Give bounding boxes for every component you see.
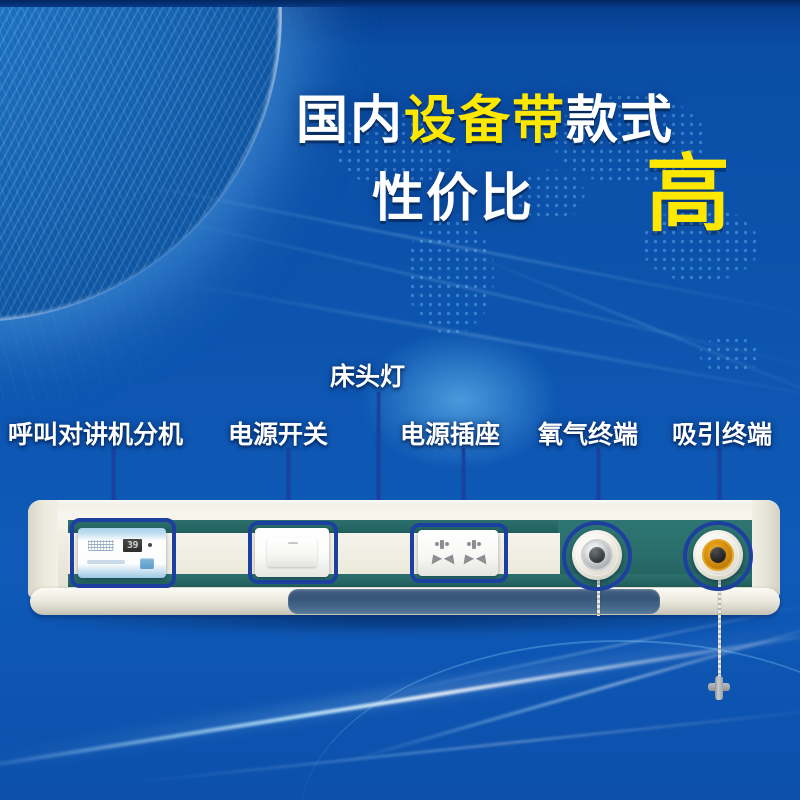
power-switch-rocker[interactable] [267, 538, 317, 567]
status-led-icon [148, 543, 152, 547]
callout-label-power-switch: 电源开关 [228, 415, 328, 451]
panel-end-cap-left [28, 500, 58, 598]
socket-outlet-right[interactable] [460, 540, 490, 566]
headline-big-word: 高 [646, 150, 732, 238]
headline-line-2: 性价比 [372, 170, 534, 228]
callout-label-intercom: 呼叫对讲机分机 [8, 415, 183, 451]
socket-prong-hole-icon [460, 552, 474, 565]
oxygen-terminal-outlet[interactable] [572, 530, 622, 580]
intercom-call-button[interactable] [140, 558, 154, 569]
rocker-nub-icon [288, 542, 298, 544]
socket-prong-hole-icon [428, 552, 442, 565]
intercom-display: 39 [123, 539, 142, 552]
headline-line-1: 国内设备带款式 [296, 92, 674, 150]
oxygen-terminal-port-icon [589, 547, 605, 563]
callout-label-bed-lamp: 床头灯 [330, 357, 405, 393]
socket-vertical-slot-icon [440, 540, 444, 549]
suction-terminal-port-icon [710, 547, 726, 563]
suction-terminal-outlet[interactable] [693, 530, 743, 580]
socket-prong-hole-icon [444, 552, 458, 565]
intercom-slot [87, 560, 125, 564]
callout-label-oxygen-terminal: 氧气终端 [538, 415, 638, 451]
background-fan-lines [0, 0, 390, 400]
oxygen-terminal-face [581, 539, 613, 571]
top-dark-band [0, 0, 800, 7]
pull-handle-vertical [715, 676, 723, 700]
speaker-grille-icon [88, 540, 114, 551]
callout-label-suction-terminal: 吸引终端 [672, 415, 772, 451]
socket-prong-hole-icon [476, 552, 490, 565]
suction-terminal-face [702, 539, 734, 571]
socket-outlet-left[interactable] [428, 540, 458, 566]
power-switch-plate [255, 528, 329, 577]
poster-stage: 国内设备带款式 性价比 高 呼叫对讲机分机 电源开关 床头灯 电源插座 氧气终端… [0, 0, 800, 800]
headline-line1-highlight: 设备带 [404, 91, 566, 151]
pull-cord-handle[interactable] [708, 676, 730, 700]
oxygen-terminal-chain [597, 580, 600, 616]
headline-line1-part2: 款式 [566, 91, 674, 151]
power-socket-plate [418, 530, 498, 576]
panel-end-cap-right [752, 500, 780, 598]
bed-lamp-cover [288, 589, 660, 614]
callout-label-power-socket: 电源插座 [400, 415, 500, 451]
socket-vertical-slot-icon [472, 540, 476, 549]
headline-line1-part1: 国内 [296, 91, 404, 151]
nurse-call-intercom-unit[interactable]: 39 [78, 528, 166, 578]
bed-lamp-pull-chain [718, 580, 721, 690]
